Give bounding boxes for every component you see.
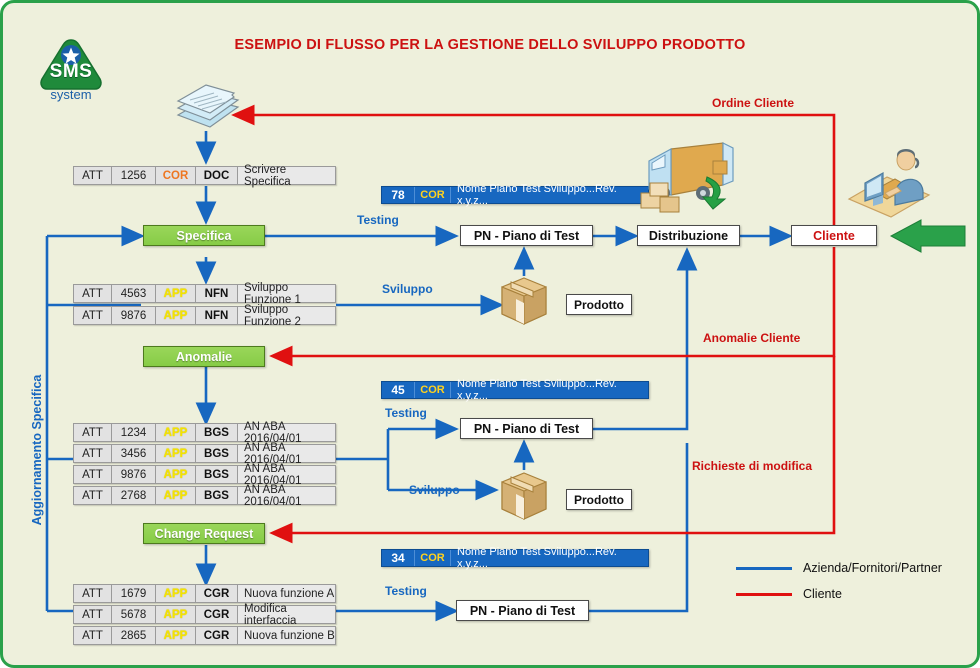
plan-status: COR — [415, 187, 451, 203]
plan-status: COR — [415, 382, 451, 398]
cell-categoria: CGR — [196, 627, 238, 644]
edge-label-ordine-cliente: Ordine Cliente — [712, 96, 794, 110]
plan-name: Nome Piano Test Sviluppo...Rev. x.y.z... — [451, 187, 648, 203]
edge-label-testing-2: Testing — [385, 406, 427, 420]
cell-tipo: ATT — [74, 307, 112, 324]
cell-numero: 3456 — [112, 445, 156, 462]
legend: Azienda/Fornitori/Partner Cliente — [736, 555, 966, 607]
plan-name: Nome Piano Test Sviluppo...Rev. x.y.z... — [451, 550, 648, 566]
cell-descrizione: Nuova funzione A — [238, 585, 335, 602]
cell-stato: APP — [156, 487, 196, 504]
legend-label: Azienda/Fornitori/Partner — [803, 561, 942, 575]
table-row[interactable]: ATT 4563 APP NFN Sviluppo Funzione 1 — [73, 284, 336, 303]
plan-status: COR — [415, 550, 451, 566]
cell-numero: 1256 — [112, 167, 156, 184]
cell-numero: 1234 — [112, 424, 156, 441]
cell-categoria: BGS — [196, 445, 238, 462]
customer-workstation-icon — [843, 143, 933, 221]
edge-label-testing-1: Testing — [357, 213, 399, 227]
table-row[interactable]: ATT 5678 APP CGR Modifica interfaccia — [73, 605, 336, 624]
plan-number: 45 — [382, 382, 415, 398]
cell-categoria: DOC — [196, 167, 238, 184]
process-box-prodotto-2[interactable]: Prodotto — [566, 489, 632, 510]
cell-descrizione: AN ABA 2016/04/01 — [238, 424, 335, 441]
cell-tipo: ATT — [74, 487, 112, 504]
cell-stato: APP — [156, 606, 196, 623]
cell-descrizione: Modifica interfaccia — [238, 606, 335, 623]
cell-numero: 9876 — [112, 466, 156, 483]
cell-numero: 4563 — [112, 285, 156, 302]
product-box-icon — [499, 275, 549, 327]
cell-tipo: ATT — [74, 424, 112, 441]
cell-categoria: BGS — [196, 487, 238, 504]
cell-tipo: ATT — [74, 445, 112, 462]
cell-tipo: ATT — [74, 466, 112, 483]
table-row[interactable]: ATT 9876 APP NFN Sviluppo Funzione 2 — [73, 306, 336, 325]
phase-box-anomalie[interactable]: Anomalie — [143, 346, 265, 367]
cell-stato: APP — [156, 627, 196, 644]
process-box-pn-test-3[interactable]: PN - Piano di Test — [456, 600, 589, 621]
table-row[interactable]: ATT 9876 APP BGS AN ABA 2016/04/01 — [73, 465, 336, 484]
logo-title: SMS — [36, 61, 106, 83]
process-box-pn-test-1[interactable]: PN - Piano di Test — [460, 225, 593, 246]
edge-label-anomalie-cliente: Anomalie Cliente — [703, 331, 800, 345]
table-row[interactable]: ATT 1234 APP BGS AN ABA 2016/04/01 — [73, 423, 336, 442]
cell-descrizione: AN ABA 2016/04/01 — [238, 487, 335, 504]
cell-stato: COR — [156, 167, 196, 184]
cell-tipo: ATT — [74, 285, 112, 302]
test-plan-bar-45[interactable]: 45 COR Nome Piano Test Sviluppo...Rev. x… — [381, 381, 649, 399]
legend-label: Cliente — [803, 587, 842, 601]
cell-descrizione: AN ABA 2016/04/01 — [238, 445, 335, 462]
edge-label-testing-3: Testing — [385, 584, 427, 598]
cell-categoria: NFN — [196, 285, 238, 302]
cell-descrizione: Nuova funzione B — [238, 627, 335, 644]
cell-tipo: ATT — [74, 585, 112, 602]
edge-label-sviluppo-1: Sviluppo — [382, 282, 433, 296]
cell-numero: 2768 — [112, 487, 156, 504]
cell-categoria: BGS — [196, 424, 238, 441]
diagram-canvas: ESEMPIO DI FLUSSO PER LA GESTIONE DELLO … — [0, 0, 980, 668]
product-box-icon — [499, 470, 549, 522]
document-stack-icon — [170, 77, 246, 133]
cell-descrizione: Sviluppo Funzione 1 — [238, 285, 335, 302]
cell-tipo: ATT — [74, 627, 112, 644]
table-row[interactable]: ATT 2768 APP BGS AN ABA 2016/04/01 — [73, 486, 336, 505]
cell-tipo: ATT — [74, 167, 112, 184]
legend-item-cliente: Cliente — [736, 581, 966, 607]
process-box-pn-test-2[interactable]: PN - Piano di Test — [460, 418, 593, 439]
edge-label-sviluppo-2: Sviluppo — [409, 483, 460, 497]
legend-item-azienda: Azienda/Fornitori/Partner — [736, 555, 966, 581]
table-row[interactable]: ATT 1256 COR DOC Scrivere Specifica — [73, 166, 336, 185]
cell-descrizione: AN ABA 2016/04/01 — [238, 466, 335, 483]
table-row[interactable]: ATT 3456 APP BGS AN ABA 2016/04/01 — [73, 444, 336, 463]
sms-logo: SMS system — [36, 39, 106, 107]
cell-tipo: ATT — [74, 606, 112, 623]
cell-numero: 1679 — [112, 585, 156, 602]
test-plan-bar-78[interactable]: 78 COR Nome Piano Test Sviluppo...Rev. x… — [381, 186, 649, 204]
cell-categoria: NFN — [196, 307, 238, 324]
cell-stato: APP — [156, 307, 196, 324]
cell-numero: 2865 — [112, 627, 156, 644]
cell-numero: 9876 — [112, 307, 156, 324]
legend-swatch-blue — [736, 567, 792, 570]
cell-stato: APP — [156, 285, 196, 302]
green-inbound-arrow-icon — [887, 219, 967, 253]
cell-descrizione: Scrivere Specifica — [238, 167, 335, 184]
cell-stato: APP — [156, 466, 196, 483]
phase-box-change-request[interactable]: Change Request — [143, 523, 265, 544]
cell-categoria: CGR — [196, 585, 238, 602]
process-box-cliente[interactable]: Cliente — [791, 225, 877, 246]
cell-categoria: CGR — [196, 606, 238, 623]
edge-label-aggiornamento-specifica: Aggiornamento Specifica — [30, 340, 44, 560]
process-box-prodotto-1[interactable]: Prodotto — [566, 294, 632, 315]
plan-number: 78 — [382, 187, 415, 203]
delivery-truck-icon — [635, 139, 743, 221]
table-row[interactable]: ATT 2865 APP CGR Nuova funzione B — [73, 626, 336, 645]
logo-subtitle: system — [36, 87, 106, 102]
test-plan-bar-34[interactable]: 34 COR Nome Piano Test Sviluppo...Rev. x… — [381, 549, 649, 567]
phase-box-specifica[interactable]: Specifica — [143, 225, 265, 246]
cell-categoria: BGS — [196, 466, 238, 483]
plan-name: Nome Piano Test Sviluppo...Rev. x.y.z... — [451, 382, 648, 398]
legend-swatch-red — [736, 593, 792, 596]
cell-descrizione: Sviluppo Funzione 2 — [238, 307, 335, 324]
table-row[interactable]: ATT 1679 APP CGR Nuova funzione A — [73, 584, 336, 603]
cell-stato: APP — [156, 424, 196, 441]
process-box-distribuzione[interactable]: Distribuzione — [637, 225, 740, 246]
cell-stato: APP — [156, 585, 196, 602]
edge-label-richieste-modifica: Richieste di modifica — [692, 459, 812, 473]
cell-stato: APP — [156, 445, 196, 462]
cell-numero: 5678 — [112, 606, 156, 623]
page-title: ESEMPIO DI FLUSSO PER LA GESTIONE DELLO … — [3, 37, 977, 53]
plan-number: 34 — [382, 550, 415, 566]
